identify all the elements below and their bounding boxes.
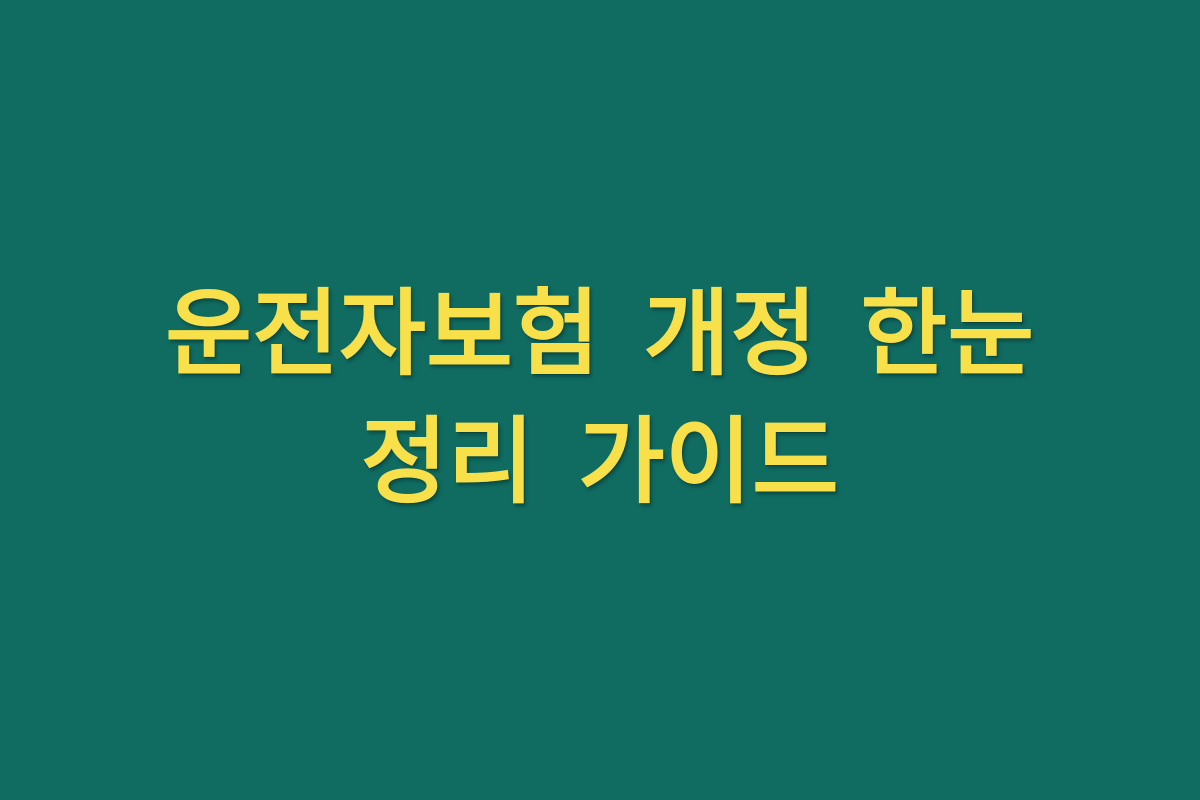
title-block: 운전자보험 개정 한눈 정리 가이드 [90,271,1110,527]
title-card: 운전자보험 개정 한눈 정리 가이드 [0,0,1200,800]
page-title: 운전자보험 개정 한눈 정리 가이드 [90,271,1110,527]
